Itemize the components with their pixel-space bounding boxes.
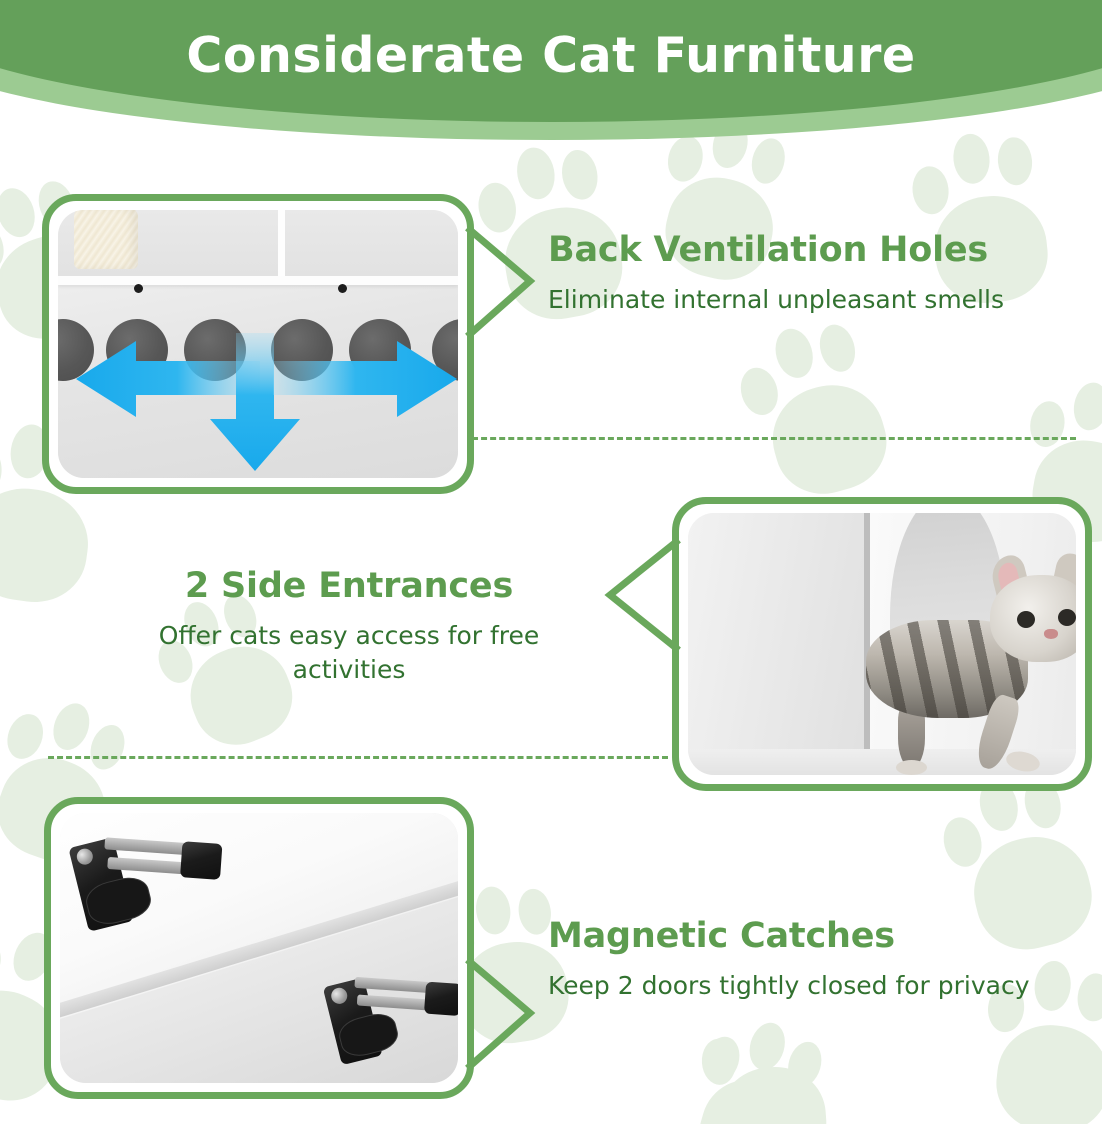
page-header (0, 0, 1102, 170)
feature-3-body: Keep 2 doors tightly closed for privacy (548, 969, 1048, 1002)
feature-1-title: Back Ventilation Holes (548, 226, 1048, 274)
feature-3-title: Magnetic Catches (548, 912, 1048, 960)
magnetic-catch-2 (317, 944, 458, 1083)
feature-3-photo-card (44, 797, 474, 1099)
feature-2-pointer-left-icon (604, 540, 680, 652)
separator-1 (472, 437, 1076, 440)
paw-print-icon (669, 1003, 860, 1124)
paw-print-icon (723, 301, 926, 518)
feature-1-pointer-right-icon (468, 228, 538, 338)
feature-2-body: Offer cats easy access for free activiti… (120, 619, 578, 686)
page-title: Considerate Cat Furniture (0, 27, 1102, 84)
cat-exiting-side-entrance-photo (688, 513, 1076, 775)
feature-1-photo-card (42, 194, 474, 494)
separator-2 (48, 756, 668, 759)
ventilation-holes-photo (58, 210, 458, 478)
infographic-page: Considerate Cat Furniture (0, 0, 1102, 1124)
feature-3-text: Magnetic Catches Keep 2 doors tightly cl… (548, 912, 1048, 1003)
magnetic-catches-photo (60, 813, 458, 1083)
airflow-arrow-right-icon (273, 339, 458, 429)
feature-1-text: Back Ventilation Holes Eliminate interna… (548, 226, 1048, 317)
feature-2-text: 2 Side Entrances Offer cats easy access … (120, 562, 578, 686)
feature-2-photo-card (672, 497, 1092, 791)
feature-3-pointer-right-icon (468, 960, 538, 1070)
feature-1-body: Eliminate internal unpleasant smells (548, 283, 1048, 316)
paw-print-icon (694, 1000, 855, 1124)
feature-2-title: 2 Side Entrances (120, 562, 578, 610)
cat-illustration (866, 579, 1076, 768)
